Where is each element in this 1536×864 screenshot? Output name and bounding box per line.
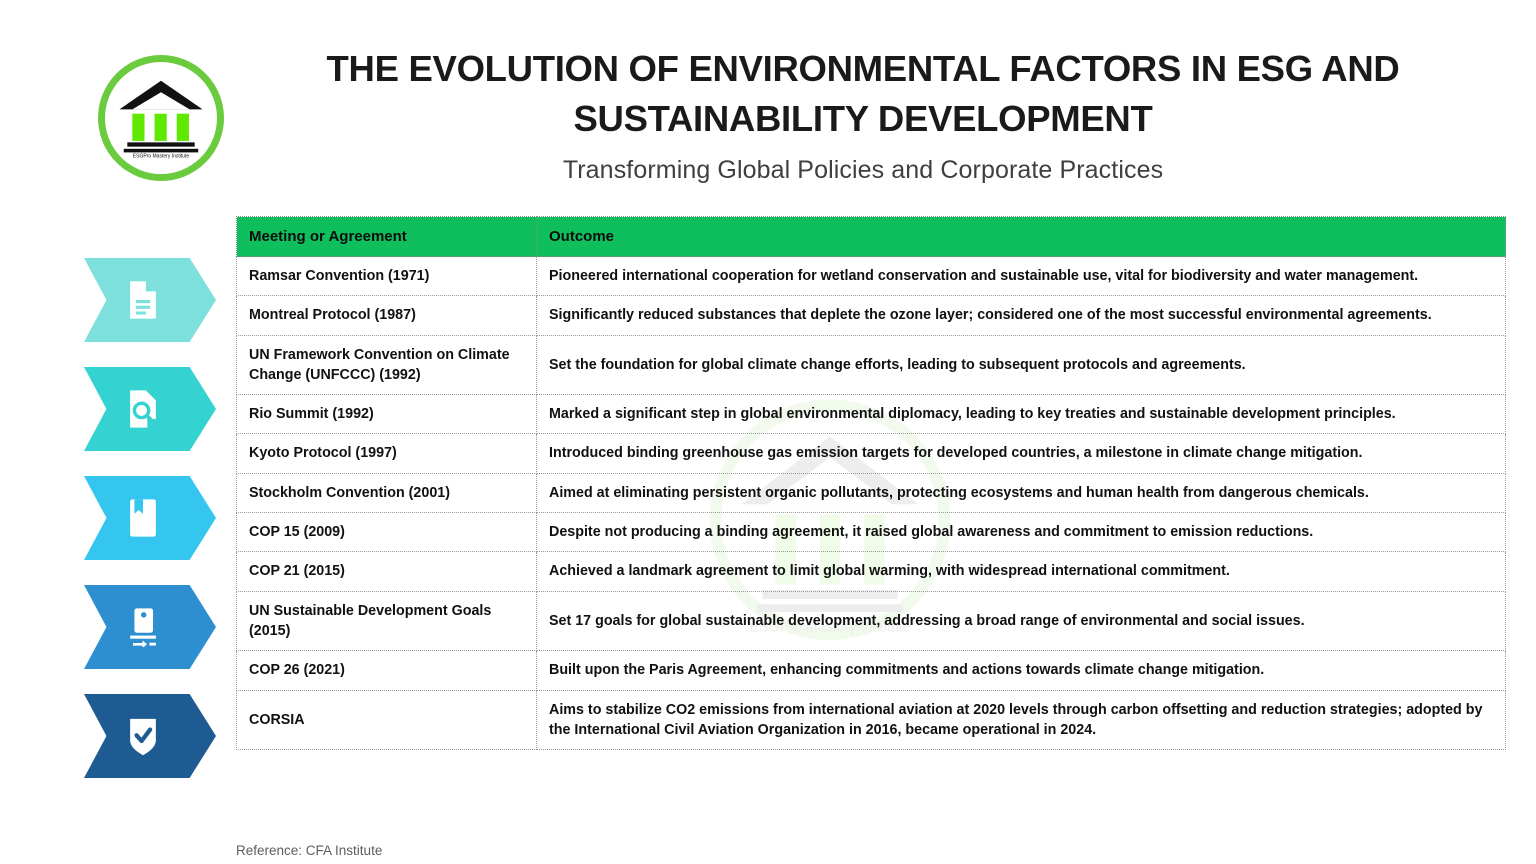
brand-logo: ESGPro Mastery Institute [98,55,224,181]
shield-check-icon [125,716,161,756]
cell-meeting: Montreal Protocol (1987) [237,296,537,335]
cell-meeting: UN Sustainable Development Goals (2015) [237,591,537,651]
page-title: THE EVOLUTION OF ENVIRONMENTAL FACTORS I… [238,44,1488,144]
chevron-rail [84,258,218,803]
table-row: COP 21 (2015)Achieved a landmark agreeme… [237,552,1506,591]
cell-meeting: COP 26 (2021) [237,651,537,690]
bookmark-icon [125,498,161,538]
cell-meeting: UN Framework Convention on Climate Chang… [237,335,537,395]
table-row: UN Framework Convention on Climate Chang… [237,335,1506,395]
table-row: Stockholm Convention (2001)Aimed at elim… [237,473,1506,512]
cell-outcome: Set 17 goals for global sustainable deve… [537,591,1506,651]
cell-outcome: Marked a significant step in global envi… [537,395,1506,434]
reference-note: Reference: CFA Institute [236,843,382,858]
document-icon [125,280,161,320]
table-area: Meeting or Agreement Outcome Ramsar Conv… [236,216,1506,750]
table-row: UN Sustainable Development Goals (2015)S… [237,591,1506,651]
cell-meeting: Ramsar Convention (1971) [237,257,537,296]
evolution-table: Meeting or Agreement Outcome Ramsar Conv… [236,216,1506,750]
cell-outcome: Pioneered international cooperation for … [537,257,1506,296]
chevron-step-2 [84,367,216,451]
chevron-step-5 [84,694,216,778]
title-block: THE EVOLUTION OF ENVIRONMENTAL FACTORS I… [238,44,1488,185]
table-row: Kyoto Protocol (1997)Introduced binding … [237,434,1506,473]
table-row: Rio Summit (1992)Marked a significant st… [237,395,1506,434]
page-header: ESGPro Mastery Institute THE EVOLUTION O… [0,0,1536,205]
table-row: COP 26 (2021)Built upon the Paris Agreem… [237,651,1506,690]
cell-outcome: Significantly reduced substances that de… [537,296,1506,335]
device-transfer-icon [125,607,161,647]
column-header-meeting: Meeting or Agreement [237,217,537,257]
document-search-icon [125,389,161,429]
cell-outcome: Aimed at eliminating persistent organic … [537,473,1506,512]
table-row: COP 15 (2009)Despite not producing a bin… [237,513,1506,552]
table-row: Ramsar Convention (1971)Pioneered intern… [237,257,1506,296]
cell-outcome: Aims to stabilize CO2 emissions from int… [537,690,1506,750]
cell-outcome: Despite not producing a binding agreemen… [537,513,1506,552]
chevron-step-1 [84,258,216,342]
column-header-outcome: Outcome [537,217,1506,257]
table-row: CORSIAAims to stabilize CO2 emissions fr… [237,690,1506,750]
table-body: Ramsar Convention (1971)Pioneered intern… [237,257,1506,750]
cell-outcome: Set the foundation for global climate ch… [537,335,1506,395]
chevron-step-3 [84,476,216,560]
cell-meeting: Stockholm Convention (2001) [237,473,537,512]
cell-outcome: Introduced binding greenhouse gas emissi… [537,434,1506,473]
cell-meeting: COP 21 (2015) [237,552,537,591]
cell-meeting: COP 15 (2009) [237,513,537,552]
cell-meeting: Rio Summit (1992) [237,395,537,434]
chevron-step-4 [84,585,216,669]
cell-outcome: Achieved a landmark agreement to limit g… [537,552,1506,591]
table-head: Meeting or Agreement Outcome [237,217,1506,257]
logo-brand-text: ESGPro Mastery Institute [133,153,190,159]
table-header-row: Meeting or Agreement Outcome [237,217,1506,257]
table-row: Montreal Protocol (1987)Significantly re… [237,296,1506,335]
cell-meeting: Kyoto Protocol (1997) [237,434,537,473]
page-subtitle: Transforming Global Policies and Corpora… [238,156,1488,185]
cell-meeting: CORSIA [237,690,537,750]
cell-outcome: Built upon the Paris Agreement, enhancin… [537,651,1506,690]
institute-building-icon: ESGPro Mastery Institute [118,77,204,159]
